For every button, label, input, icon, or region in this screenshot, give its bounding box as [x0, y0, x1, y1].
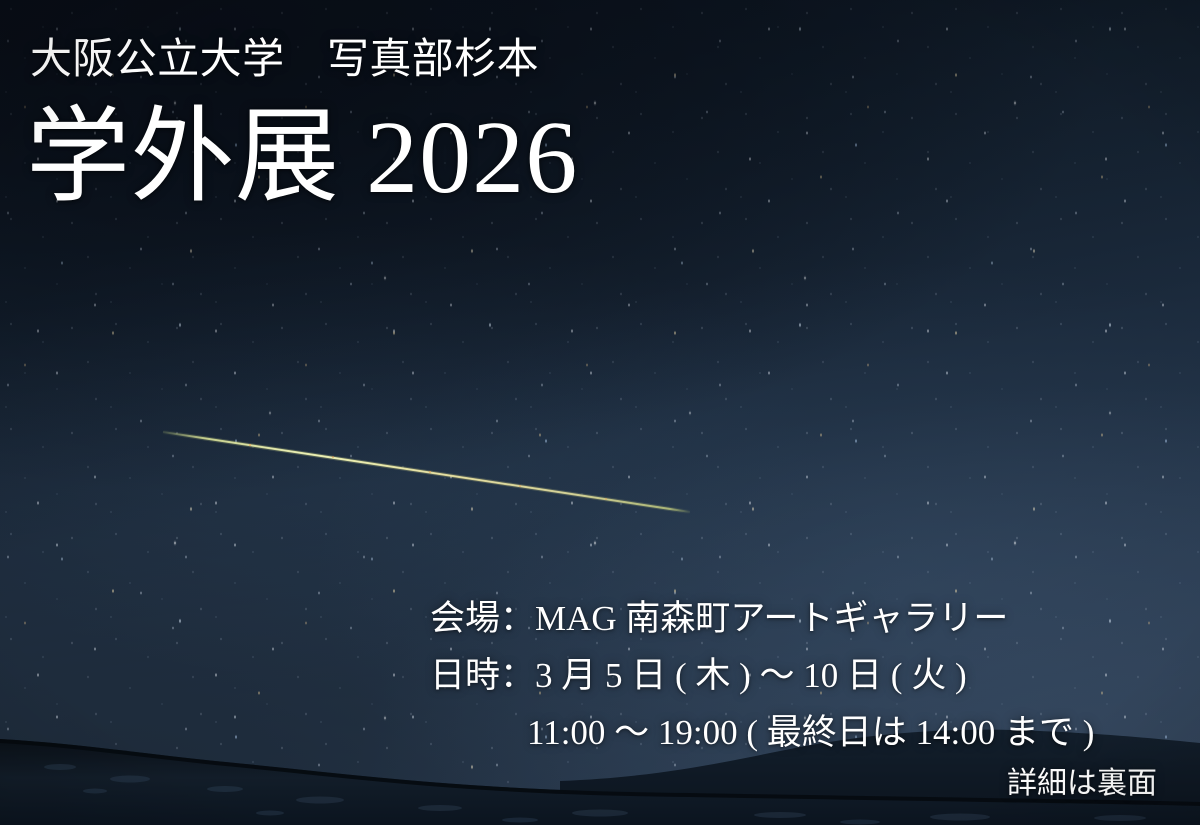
- info-venue: 会場：MAG 南森町アートギャラリー: [430, 598, 1008, 640]
- info-time: 11:00 〜 19:00 ( 最終日は 14:00 まで ): [527, 712, 1094, 754]
- page-title: 学外展 2026: [26, 100, 578, 216]
- title-year: 2026: [366, 100, 578, 215]
- organization-subtitle: 大阪公立大学 写真部杉本: [30, 36, 539, 84]
- info-note-backside: 詳細は裏面: [1007, 766, 1157, 802]
- title-japanese: 学外展: [26, 100, 366, 215]
- info-date: 日時：3 月 5 日 ( 木 ) 〜 10 日 ( 火 ): [430, 655, 967, 697]
- poster-canvas: 大阪公立大学 写真部杉本 学外展 2026 会場：MAG 南森町アートギャラリー…: [0, 0, 1200, 825]
